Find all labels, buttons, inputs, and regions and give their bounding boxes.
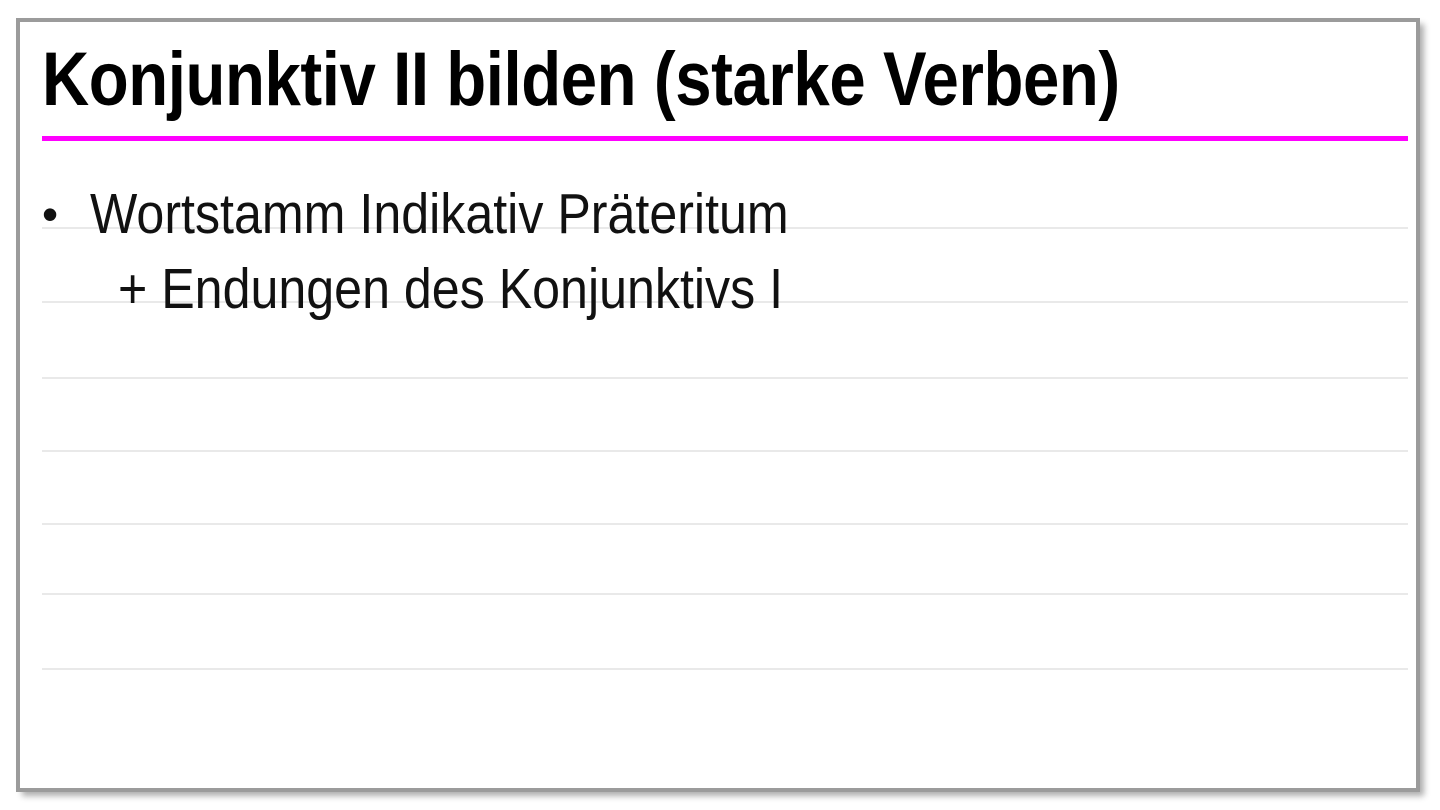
ruled-line	[42, 593, 1408, 595]
ruled-line	[42, 450, 1408, 452]
list-item: • Wortstamm Indikativ Präteritum	[42, 177, 1408, 252]
bullet-dot-icon: •	[42, 177, 90, 252]
bullet-text-primary: Wortstamm Indikativ Präteritum	[90, 177, 789, 252]
page-title: Konjunktiv II bilden (starke Verben)	[42, 38, 1217, 122]
slide-canvas: Konjunktiv II bilden (starke Verben) • W…	[20, 22, 1416, 788]
body-content: • Wortstamm Indikativ Präteritum + Endun…	[42, 177, 1408, 327]
ruled-line	[42, 377, 1408, 379]
list-item-continuation: + Endungen des Konjunktivs I	[42, 252, 1408, 327]
title-block: Konjunktiv II bilden (starke Verben)	[42, 38, 1408, 122]
title-underline-rule	[42, 136, 1408, 141]
slide-root: Konjunktiv II bilden (starke Verben) • W…	[0, 0, 1440, 810]
ruled-line	[42, 523, 1408, 525]
slide-frame: Konjunktiv II bilden (starke Verben) • W…	[16, 18, 1420, 792]
ruled-line	[42, 668, 1408, 670]
bullet-text-continuation: + Endungen des Konjunktivs I	[118, 252, 783, 327]
